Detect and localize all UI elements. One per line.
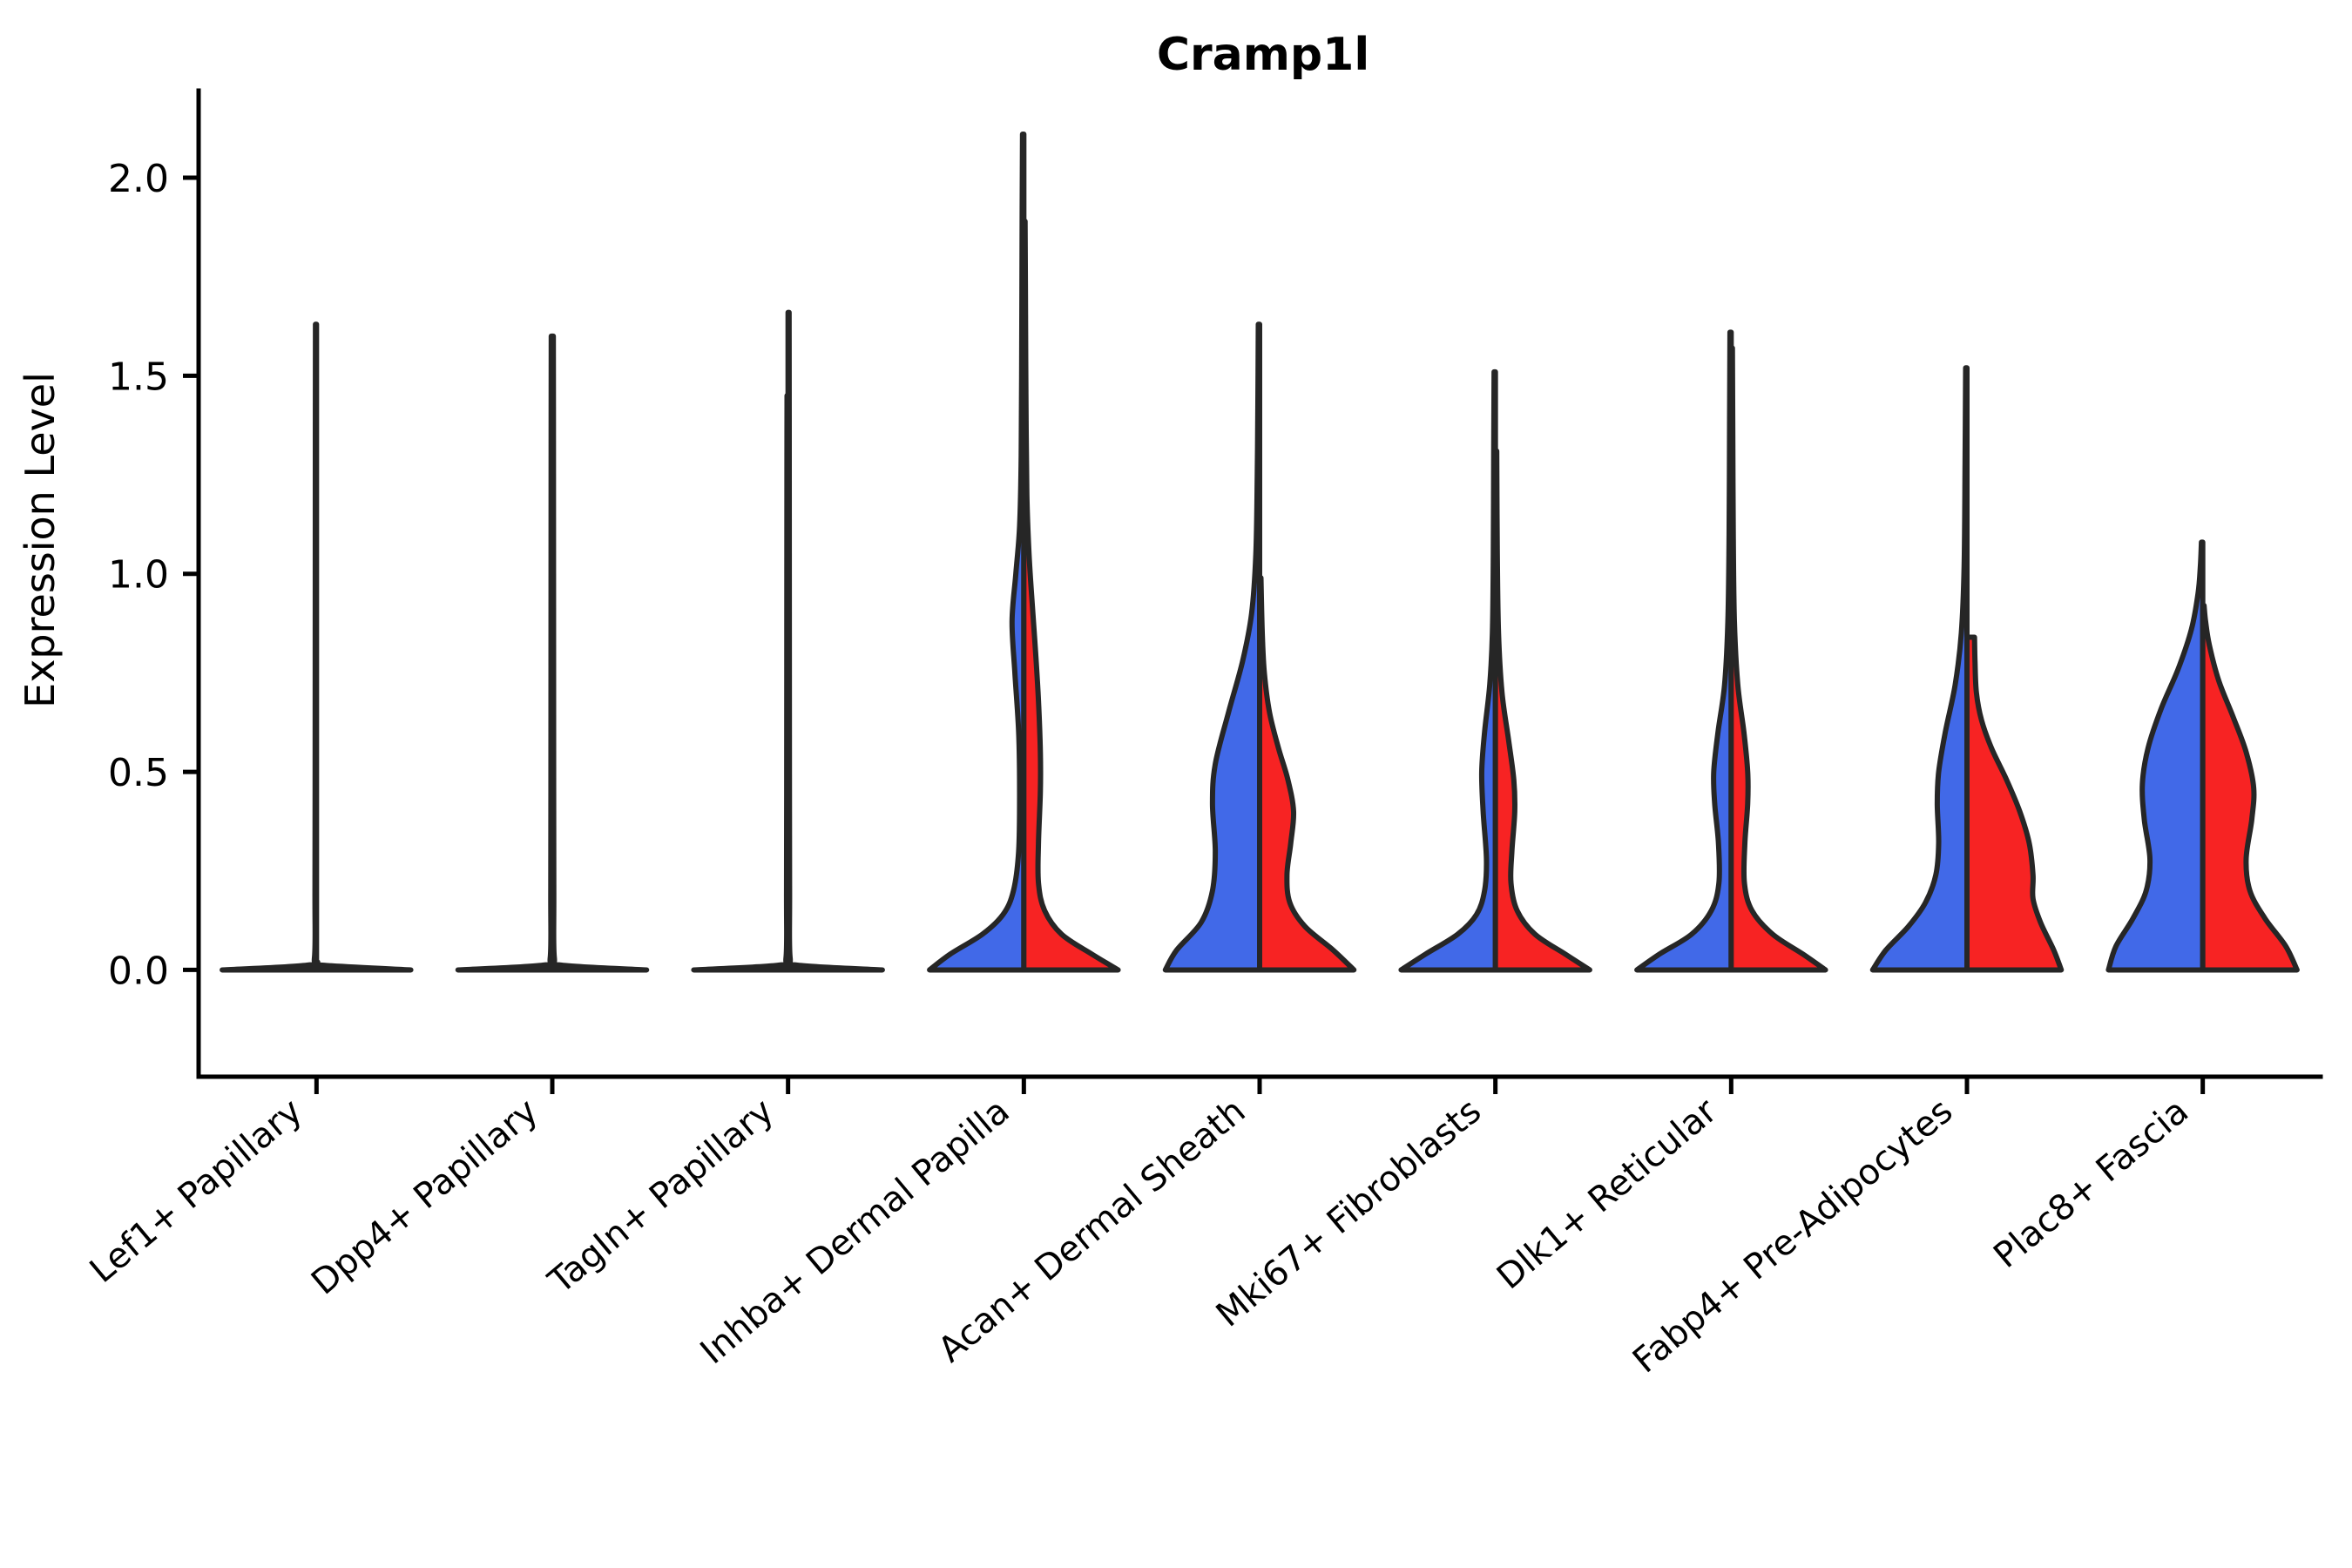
y-axis-tick-label: 0.0 [108, 949, 169, 993]
y-axis-label: Expression Level [17, 372, 64, 708]
violin-plot-figure: Cramp1l Expression Level 0.00.51.01.52.0… [0, 0, 2352, 1568]
y-axis-tick-label: 0.5 [108, 751, 169, 795]
y-axis-tick-label: 2.0 [108, 157, 169, 201]
y-axis-tick-label: 1.0 [108, 553, 169, 598]
violin-plot-canvas: Cramp1l Expression Level 0.00.51.01.52.0… [0, 0, 2352, 1568]
page-title: Cramp1l [1157, 29, 1369, 81]
y-axis-tick-label: 1.5 [108, 355, 169, 399]
